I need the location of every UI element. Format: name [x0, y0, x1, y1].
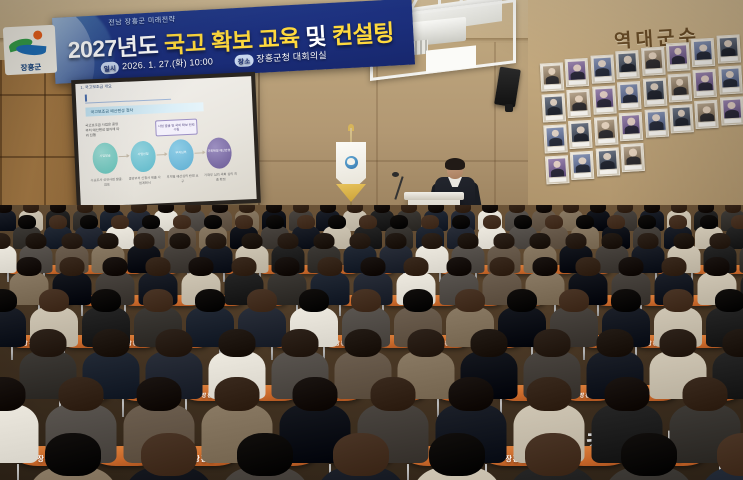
portrait-frame	[716, 34, 741, 63]
audience-head	[45, 433, 101, 476]
audience-head	[596, 329, 633, 357]
slide-stage-caption-3: 부처별 예산심의 반영 요구	[166, 174, 200, 186]
audience-head	[297, 215, 315, 229]
audience-head	[155, 329, 192, 357]
audience-head	[61, 233, 82, 249]
portrait-frame	[641, 46, 666, 75]
audience-head	[407, 329, 444, 357]
portrait-frame	[695, 100, 720, 129]
projection-screen-frame: 1. 국고보조금 개요 국고보조금 예산편성 절차 국고보조금 사업은 중앙부처…	[71, 72, 261, 211]
audience-head	[482, 205, 498, 213]
audience-head	[49, 215, 67, 229]
audience-head	[483, 215, 501, 229]
audience-torso	[739, 245, 743, 273]
slide-stage-label-2: 사업신청	[130, 151, 155, 156]
chair-leg	[583, 346, 585, 360]
slide-stage-label-3: 부처심의	[168, 150, 193, 155]
chair-leg	[339, 304, 341, 316]
audience-head	[559, 289, 589, 312]
banner-place-pill: 장소	[235, 54, 254, 67]
portrait-frame	[540, 62, 565, 91]
audience-head	[576, 215, 594, 229]
audience-head	[50, 205, 66, 213]
audience-head	[218, 329, 255, 357]
audience-head	[281, 329, 318, 357]
audience-head	[722, 329, 743, 357]
portrait-frame	[642, 77, 667, 106]
banner-datetime-text: 2026. 1. 27.(화) 10:00	[122, 56, 213, 71]
audience-head	[470, 329, 507, 357]
audience-head	[169, 233, 190, 249]
portrait-frame	[567, 89, 592, 118]
audience-head	[97, 233, 118, 249]
audience-torso	[0, 307, 26, 347]
portrait-frame	[621, 143, 646, 172]
audience-head	[371, 377, 416, 411]
portrait-frame	[666, 42, 691, 71]
portrait-frame	[619, 112, 644, 141]
audience-torso	[0, 210, 16, 231]
audience-torso	[0, 404, 39, 463]
portrait-frame	[644, 108, 669, 137]
slide-stage-oval-2: 사업신청	[130, 141, 156, 173]
audience-head	[663, 289, 693, 312]
chair-leg	[597, 304, 599, 316]
portrait-frame	[615, 50, 640, 79]
audience-head	[141, 433, 197, 476]
slide-section-title: 1. 국고보조금 개요	[80, 83, 112, 90]
slide-callout-text: 사업 발굴 및 국비 확보 전략 수립	[156, 123, 196, 133]
audience-head	[158, 205, 174, 213]
portrait-frame	[542, 93, 567, 122]
audience-head	[545, 215, 563, 229]
audience-member	[0, 289, 21, 347]
projection-screen: 1. 국고보조금 개요 국고보조금 예산편성 절차 국고보조금 사업은 중앙부처…	[75, 76, 256, 207]
audience-head	[421, 233, 442, 249]
slide-stage-caption-1: 수요조사 신규사업 발굴·검토	[90, 177, 124, 189]
audience-head	[401, 205, 417, 213]
audience-head	[232, 257, 257, 276]
audience-member	[517, 433, 589, 480]
audience-head	[266, 215, 284, 229]
audience-head	[527, 377, 572, 411]
chair-leg	[407, 464, 409, 480]
portrait-frame	[565, 58, 590, 87]
audience-head	[611, 289, 641, 312]
audience-head	[143, 289, 173, 312]
audience-head	[659, 329, 696, 357]
audience-head	[662, 257, 687, 276]
audience-head	[404, 257, 429, 276]
portrait-frame	[590, 54, 615, 83]
audience-head	[421, 215, 439, 229]
audience-head	[507, 289, 537, 312]
audience-member	[325, 433, 397, 480]
audience-head	[195, 289, 225, 312]
chair-leg	[17, 464, 19, 480]
audience-head	[59, 377, 104, 411]
audience-head	[142, 215, 160, 229]
audience-head	[671, 205, 687, 213]
portrait-frame	[570, 151, 595, 180]
audience-head	[344, 329, 381, 357]
audience-member	[613, 433, 685, 480]
audience-head	[60, 257, 85, 276]
conference-photo: 역대군수 전남 장흥군 미래전략 2027년도 국고 확보 교육 및 컨설팅 일…	[0, 0, 743, 480]
audience-head	[605, 377, 650, 411]
audience-head	[293, 377, 338, 411]
audience-head	[638, 215, 656, 229]
audience-head	[705, 257, 730, 276]
audience-head	[490, 257, 515, 276]
portrait-frame	[543, 124, 568, 153]
audience-head	[137, 377, 182, 411]
audience-head	[621, 433, 677, 476]
audience-head	[277, 233, 298, 249]
audience-member	[421, 433, 493, 480]
banner-title-seg-4: 컨설팅	[331, 20, 394, 49]
audience-head	[17, 257, 42, 276]
slide-stage-caption-4: 기재부 심의 국회 심의 최종 확정	[203, 172, 237, 184]
audience-head	[80, 215, 98, 229]
audience-area: 장흥군장흥군장흥군장흥군장흥군장흥군장흥군장흥군장흥군장흥군장흥군장흥군장흥군장…	[0, 205, 743, 480]
audience-head	[669, 215, 687, 229]
audience-head	[390, 215, 408, 229]
audience-head	[455, 289, 485, 312]
audience-head	[563, 205, 579, 213]
audience-head	[237, 433, 293, 476]
slide-arrow-1	[119, 156, 129, 157]
audience-member	[37, 433, 109, 480]
slide-stage-caption-2: 중앙부처 신청서 제출 사업계획서	[128, 175, 162, 187]
slide-stage-label-1: 사업발굴	[93, 153, 118, 158]
audience-head	[698, 205, 714, 213]
audience-head	[725, 205, 741, 213]
audience-member	[709, 433, 743, 480]
audience-head	[700, 215, 718, 229]
audience-head	[683, 377, 728, 411]
portrait-frame	[595, 147, 620, 176]
audience-head	[133, 233, 154, 249]
audience-head	[92, 329, 129, 357]
slide-stage-oval-4: 국회확정 예산반영	[206, 137, 232, 169]
audience-head	[533, 257, 558, 276]
audience-head	[731, 215, 743, 229]
audience-head	[673, 233, 694, 249]
audience-head	[91, 289, 121, 312]
audience-head	[104, 205, 120, 213]
audience-head	[447, 257, 472, 276]
audience-head	[715, 289, 743, 312]
microphone-head	[392, 172, 399, 177]
audience-head	[189, 257, 214, 276]
audience-head	[215, 377, 260, 411]
audience-head	[313, 233, 334, 249]
banner-place-text: 장흥군청 대회의실	[256, 50, 327, 64]
audience-head	[403, 289, 433, 312]
audience-head	[565, 233, 586, 249]
slide-stage-label-4: 국회확정 예산반영	[206, 148, 231, 153]
slide-arrow-2	[157, 154, 167, 155]
audience-head	[347, 205, 363, 213]
audience-head	[493, 233, 514, 249]
audience-head	[111, 215, 129, 229]
audience-member	[0, 233, 13, 273]
audience-head	[536, 205, 552, 213]
wall-speaker-mount	[505, 104, 513, 112]
audience-head	[349, 233, 370, 249]
audience-head	[385, 233, 406, 249]
audience-head	[320, 205, 336, 213]
portrait-frame	[720, 96, 743, 125]
portrait-frame	[545, 155, 570, 184]
audience-head	[514, 215, 532, 229]
audience-head	[275, 257, 300, 276]
audience-head	[429, 433, 485, 476]
county-emblem: 장흥군	[3, 25, 57, 76]
audience-head	[449, 377, 494, 411]
audience-head	[18, 215, 36, 229]
audience-head	[374, 205, 390, 213]
audience-head	[205, 233, 226, 249]
audience-head	[185, 205, 201, 213]
audience-head	[359, 215, 377, 229]
audience-head	[452, 215, 470, 229]
audience-head	[241, 233, 262, 249]
chair-leg	[271, 346, 273, 360]
audience-head	[266, 205, 282, 213]
slide-callout-box: 사업 발굴 및 국비 확보 전략 수립	[155, 119, 198, 137]
audience-head	[39, 289, 69, 312]
portrait-frame	[669, 104, 694, 133]
slide-section-rule	[85, 90, 171, 104]
audience-head	[457, 233, 478, 249]
portrait-frame	[568, 120, 593, 149]
audience-member	[229, 433, 301, 480]
audience-head	[23, 205, 39, 213]
chair-leg	[11, 346, 13, 360]
chair-leg	[122, 399, 124, 417]
slide-stage-oval-1: 사업발굴	[92, 142, 118, 174]
audience-member	[0, 377, 32, 463]
audience-head	[333, 433, 389, 476]
portrait-frame	[691, 38, 716, 67]
audience-head	[77, 205, 93, 213]
audience-head	[509, 205, 525, 213]
chair-leg	[7, 272, 9, 282]
audience-head	[173, 215, 191, 229]
audience-head	[601, 233, 622, 249]
audience-head	[533, 329, 570, 357]
audience-head	[239, 205, 255, 213]
audience-head	[247, 289, 277, 312]
audience-head	[529, 233, 550, 249]
audience-head	[607, 215, 625, 229]
slide-stage-oval-3: 부처심의	[168, 139, 194, 171]
portrait-frame	[693, 69, 718, 98]
audience-head	[351, 289, 381, 312]
slide-side-note: 국고보조금 사업은 중앙부처 예산편성 절차에 따라 진행	[85, 122, 122, 139]
audience-head	[212, 205, 228, 213]
audience-head	[590, 205, 606, 213]
audience-head	[299, 289, 329, 312]
portrait-frame	[617, 81, 642, 110]
audience-head	[131, 205, 147, 213]
audience-head	[428, 205, 444, 213]
audience-head	[25, 233, 46, 249]
portrait-frame	[668, 73, 693, 102]
audience-head	[29, 329, 66, 357]
audience-head	[644, 205, 660, 213]
audience-head	[204, 215, 222, 229]
audience-head	[455, 205, 471, 213]
audience-head	[328, 215, 346, 229]
audience-head	[146, 257, 171, 276]
audience-head	[617, 205, 633, 213]
audience-head	[318, 257, 343, 276]
audience-head	[361, 257, 386, 276]
portrait-frame	[592, 85, 617, 114]
audience-head	[576, 257, 601, 276]
audience-member	[133, 433, 205, 480]
banner-title-seg-3: 및	[305, 23, 333, 50]
audience-head	[103, 257, 128, 276]
audience-head	[525, 433, 581, 476]
audience-head	[637, 233, 658, 249]
portrait-frame	[718, 65, 743, 94]
audience-head	[235, 215, 253, 229]
audience-head	[709, 233, 730, 249]
portrait-frame	[594, 116, 619, 145]
audience-head	[293, 205, 309, 213]
audience-member	[0, 205, 14, 231]
slide-arrow-3	[195, 152, 205, 153]
banner-datetime-pill: 일시	[100, 61, 119, 74]
portrait-frame-grid	[535, 46, 743, 225]
audience-head	[619, 257, 644, 276]
